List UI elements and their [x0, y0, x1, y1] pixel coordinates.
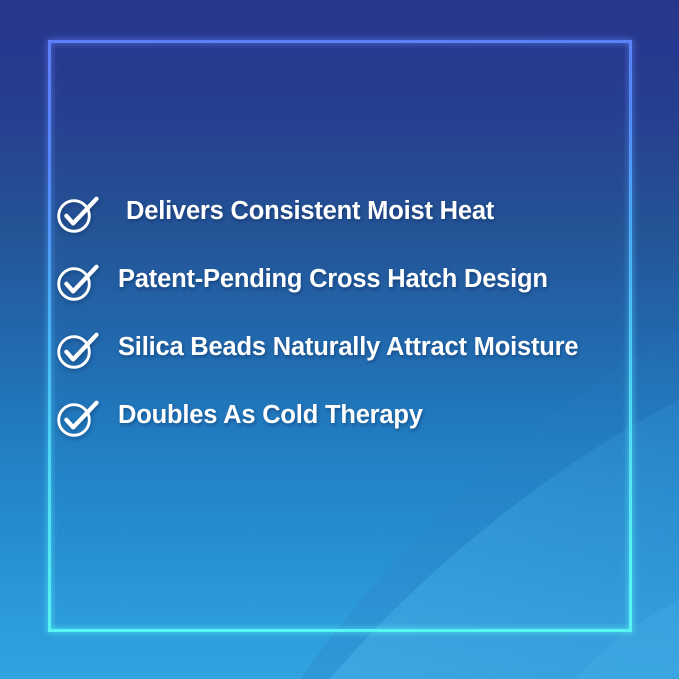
- feature-item: Doubles As Cold Therapy: [52, 382, 572, 450]
- feature-label: Silica Beads Naturally Attract Moisture: [118, 335, 578, 361]
- feature-label: Doubles As Cold Therapy: [118, 403, 423, 429]
- promo-banner: Delivers Consistent Moist Heat Patent-Pe…: [0, 0, 679, 679]
- check-circle-icon: [56, 326, 102, 370]
- check-circle-icon: [56, 190, 102, 234]
- check-circle-icon: [56, 258, 102, 302]
- feature-item: Delivers Consistent Moist Heat: [52, 178, 572, 246]
- feature-item: Silica Beads Naturally Attract Moisture: [52, 314, 572, 382]
- feature-label: Patent-Pending Cross Hatch Design: [118, 267, 548, 293]
- check-circle-icon: [56, 394, 102, 438]
- feature-label: Delivers Consistent Moist Heat: [126, 199, 494, 225]
- feature-item: Patent-Pending Cross Hatch Design: [52, 246, 572, 314]
- feature-list: Delivers Consistent Moist Heat Patent-Pe…: [52, 178, 572, 450]
